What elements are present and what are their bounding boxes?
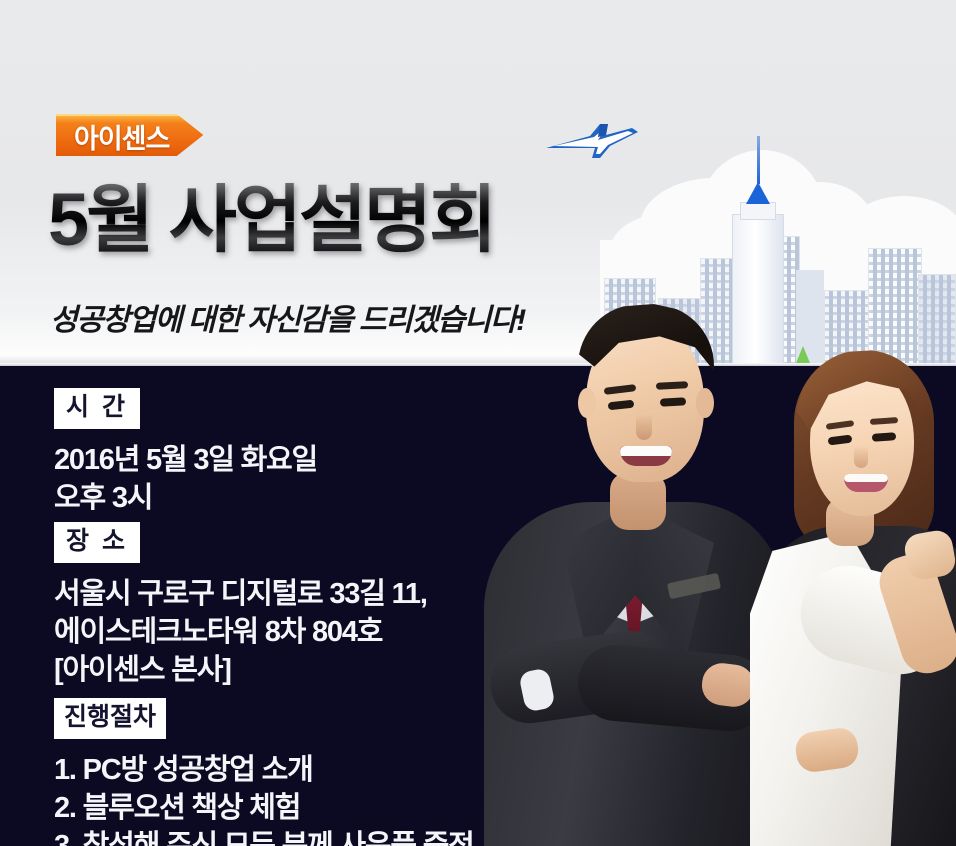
procedure-label: 진행절차 [54, 698, 166, 739]
procedure-lines: 1. PC방 성공창업 소개 2. 블루오션 책상 체험 3. 참석해 주신 모… [54, 751, 474, 846]
procedure-item: 2. 블루오션 책상 체험 [54, 789, 474, 827]
place-line: [아이센스 본사] [54, 651, 427, 689]
tower-building [732, 214, 784, 366]
section-procedure: 진행절차 1. PC방 성공창업 소개 2. 블루오션 책상 체험 3. 참석해… [54, 698, 474, 846]
procedure-item: 1. PC방 성공창업 소개 [54, 751, 474, 789]
time-line: 오후 3시 [54, 479, 317, 517]
tower-antenna-icon [757, 136, 760, 184]
section-time: 시 간 2016년 5월 3일 화요일 오후 3시 [54, 388, 317, 517]
page-title: 5월 사업설명회 [48, 183, 494, 257]
airplane-icon [540, 118, 644, 164]
time-line: 2016년 5월 3일 화요일 [54, 441, 317, 479]
time-label: 시 간 [54, 388, 140, 429]
promo-banner: 아이센스 5월 사업설명회 성공창업에 대한 자신감을 드리겠습니다! 시 간 … [0, 0, 956, 846]
place-lines: 서울시 구로구 디지털로 33길 11, 에이스테크노타워 8차 804호 [아… [54, 575, 427, 689]
page-subtitle: 성공창업에 대한 자신감을 드리겠습니다! [50, 295, 525, 339]
header-panel: 아이센스 5월 사업설명회 성공창업에 대한 자신감을 드리겠습니다! [0, 0, 956, 366]
brand-badge: 아이센스 [56, 114, 203, 156]
tower-spire-base-icon [746, 182, 770, 204]
place-line: 서울시 구로구 디지털로 33길 11, [54, 575, 427, 613]
details-panel: 시 간 2016년 5월 3일 화요일 오후 3시 장 소 서울시 구로구 디지… [0, 366, 956, 846]
section-place: 장 소 서울시 구로구 디지털로 33길 11, 에이스테크노타워 8차 804… [54, 522, 427, 689]
cityscape-illustration [596, 160, 956, 366]
procedure-item: 3. 참석해 주신 모든 분께 사은품 증정 [54, 827, 474, 846]
place-line: 에이스테크노타워 8차 804호 [54, 613, 427, 651]
time-lines: 2016년 5월 3일 화요일 오후 3시 [54, 441, 317, 517]
place-label: 장 소 [54, 522, 140, 563]
